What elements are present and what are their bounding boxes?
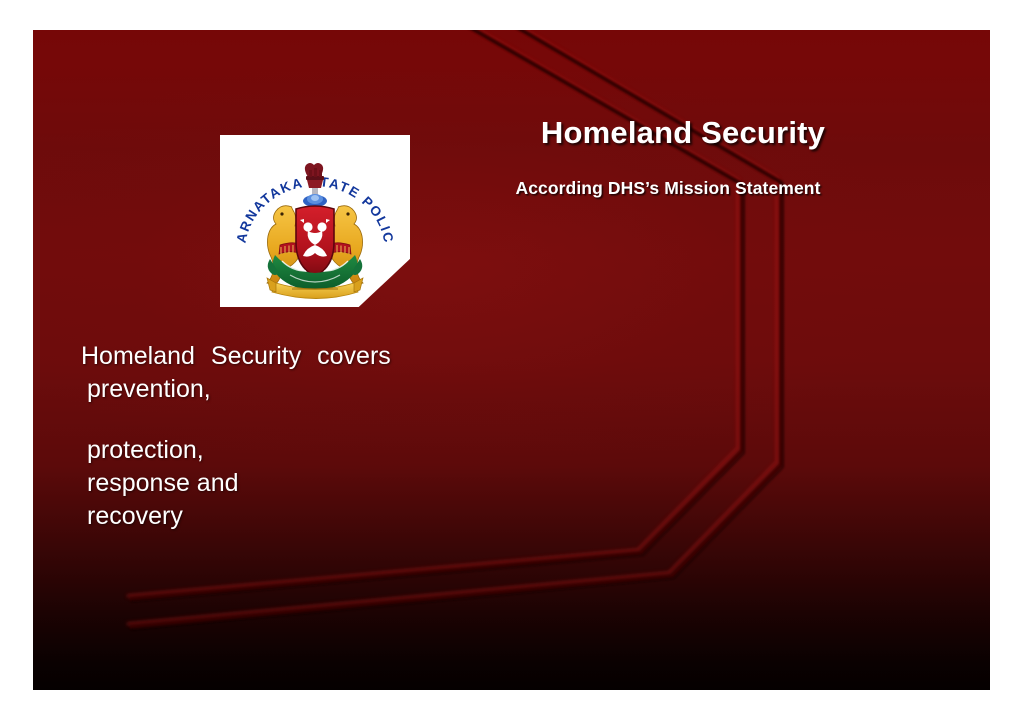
body-line-3: protection, (87, 434, 509, 467)
karnataka-state-police-emblem-icon: KARNATAKA STATE POLICE (220, 137, 410, 307)
body-line-4: response and (87, 467, 509, 500)
body-line-1: Homeland Security covers (79, 340, 509, 373)
body-line-2: prevention, (79, 373, 509, 406)
slide-body-text: Homeland Security covers prevention, pro… (79, 340, 509, 539)
body-line-5: recovery (87, 500, 509, 533)
slide-title: Homeland Security (433, 115, 933, 151)
body-paragraph-2: protection, response and recovery (79, 434, 509, 533)
slide-subtitle: According DHS’s Mission Statement (418, 178, 918, 199)
page-canvas: KARNATAKA STATE POLICE (0, 0, 1024, 723)
karnataka-state-police-logo-card: KARNATAKA STATE POLICE (220, 135, 410, 307)
body-paragraph-1: Homeland Security covers prevention, (79, 340, 509, 406)
emblem-lotus (303, 194, 327, 207)
emblem-pillar-crest (305, 163, 324, 198)
emblem-shield (296, 206, 334, 276)
presentation-slide: KARNATAKA STATE POLICE (33, 30, 990, 690)
